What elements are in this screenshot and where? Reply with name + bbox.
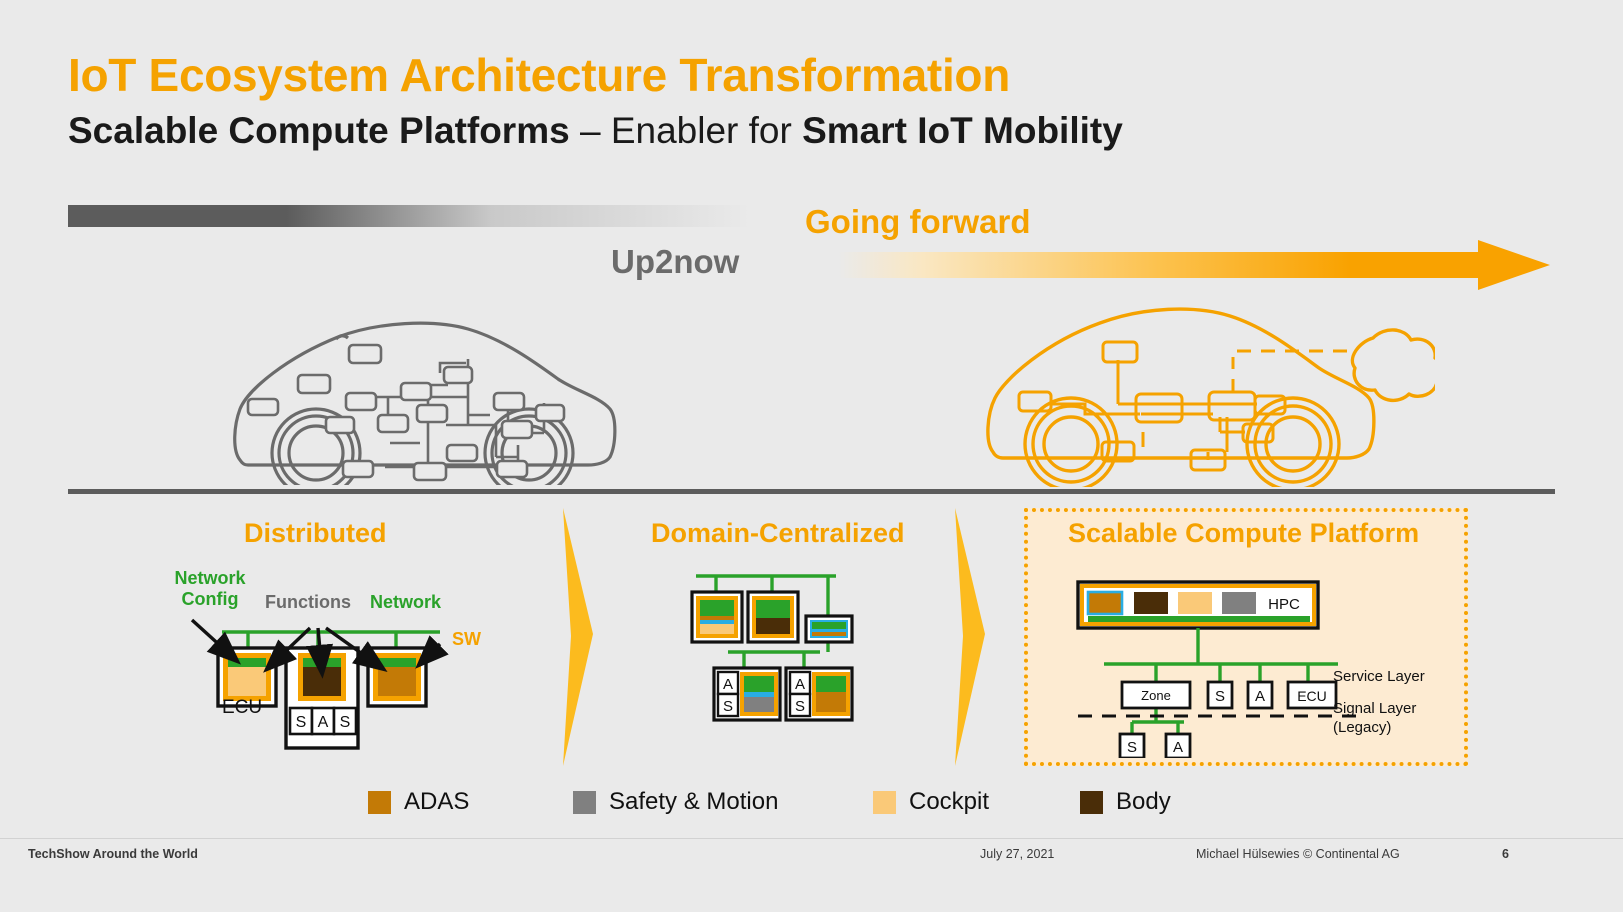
svg-text:A: A xyxy=(723,676,733,693)
legend-label-adas: ADAS xyxy=(404,788,469,816)
svg-text:S: S xyxy=(723,698,733,715)
domain-unit-cockpit xyxy=(692,592,742,642)
footer-author: Michael Hülsewies © Continental AG xyxy=(1196,847,1400,861)
service-node-zone: Zone xyxy=(1122,682,1190,708)
footer-date: July 27, 2021 xyxy=(980,847,1054,861)
future-vehicle-illustration xyxy=(955,292,1435,487)
sensor-actuator-group: S A S xyxy=(290,708,356,734)
forward-arrow-icon xyxy=(838,240,1550,290)
svg-text:A: A xyxy=(795,676,805,693)
going-forward-label: Going forward xyxy=(805,203,1031,241)
label-functions: Functions xyxy=(265,592,351,613)
svg-text:Zone: Zone xyxy=(1141,688,1171,703)
domain-centralized-diagram: A S A S xyxy=(688,562,868,727)
service-node-s: S xyxy=(1208,682,1232,708)
hpc-module: HPC xyxy=(1078,582,1318,628)
label-ecu: ECU xyxy=(222,697,262,719)
legend-swatch-cockpit xyxy=(873,791,896,814)
svg-text:S: S xyxy=(1215,688,1225,705)
subtitle-bold-1: Scalable Compute Platforms xyxy=(68,110,570,151)
past-gradient-bar xyxy=(68,205,751,227)
domain-unit-switch xyxy=(806,616,852,642)
legend-swatch-adas xyxy=(368,791,391,814)
subtitle-bold-2: Smart IoT Mobility xyxy=(802,110,1123,151)
legend-item-safety-motion: Safety & Motion xyxy=(573,788,873,816)
label-signal-layer: Signal Layer (Legacy) xyxy=(1333,700,1416,738)
label-network-config: Network Config xyxy=(155,568,265,609)
legend-item-adas: ADAS xyxy=(368,788,573,816)
footer-page-number: 6 xyxy=(1502,847,1509,861)
svg-text:A: A xyxy=(318,714,329,731)
transition-chevron-1-icon xyxy=(563,508,597,766)
label-service-layer: Service Layer xyxy=(1333,668,1425,685)
subtitle-dash: – xyxy=(570,110,611,151)
legend-swatch-body xyxy=(1080,791,1103,814)
zone-child-a: A xyxy=(1166,734,1190,758)
legend: ADAS Safety & Motion Cockpit Body xyxy=(368,788,1240,816)
legend-item-body: Body xyxy=(1080,788,1240,816)
domain-unit-adas: A S xyxy=(786,668,852,720)
section-divider xyxy=(68,489,1555,494)
service-node-ecu: ECU xyxy=(1288,682,1336,708)
label-sw: SW xyxy=(452,629,481,650)
transition-chevron-2-icon xyxy=(955,508,989,766)
svg-text:A: A xyxy=(1173,739,1183,756)
svg-text:S: S xyxy=(340,714,351,731)
legend-label-safety-motion: Safety & Motion xyxy=(609,788,778,816)
legend-label-cockpit: Cockpit xyxy=(909,788,989,816)
distributed-ecu-adas xyxy=(368,648,426,706)
svg-text:S: S xyxy=(1127,739,1137,756)
legend-swatch-safety-motion xyxy=(573,791,596,814)
service-node-a: A xyxy=(1248,682,1272,708)
page-subtitle: Scalable Compute Platforms – Enabler for… xyxy=(68,110,1123,152)
subtitle-plain: Enabler for xyxy=(611,110,802,151)
slide-canvas: IoT Ecosystem Architecture Transformatio… xyxy=(0,0,1623,912)
svg-text:ECU: ECU xyxy=(1297,688,1327,704)
svg-text:S: S xyxy=(296,714,307,731)
label-network: Network xyxy=(370,592,441,613)
column-heading-distributed: Distributed xyxy=(244,518,387,549)
column-heading-domain-centralized: Domain-Centralized xyxy=(651,518,905,549)
legend-label-body: Body xyxy=(1116,788,1171,816)
legend-item-cockpit: Cockpit xyxy=(873,788,1080,816)
legacy-vehicle-illustration xyxy=(218,305,618,485)
domain-unit-safety-motion: A S xyxy=(714,668,780,720)
footer-divider xyxy=(0,838,1623,839)
svg-text:A: A xyxy=(1255,688,1265,705)
up2now-label: Up2now xyxy=(611,243,739,281)
zone-child-s: S xyxy=(1120,734,1144,758)
page-title: IoT Ecosystem Architecture Transformatio… xyxy=(68,48,1010,102)
domain-unit-body xyxy=(748,592,798,642)
hpc-label: HPC xyxy=(1268,596,1300,613)
footer-event: TechShow Around the World xyxy=(28,847,198,861)
column-heading-scalable-platform: Scalable Compute Platform xyxy=(1068,518,1419,549)
svg-text:S: S xyxy=(795,698,805,715)
